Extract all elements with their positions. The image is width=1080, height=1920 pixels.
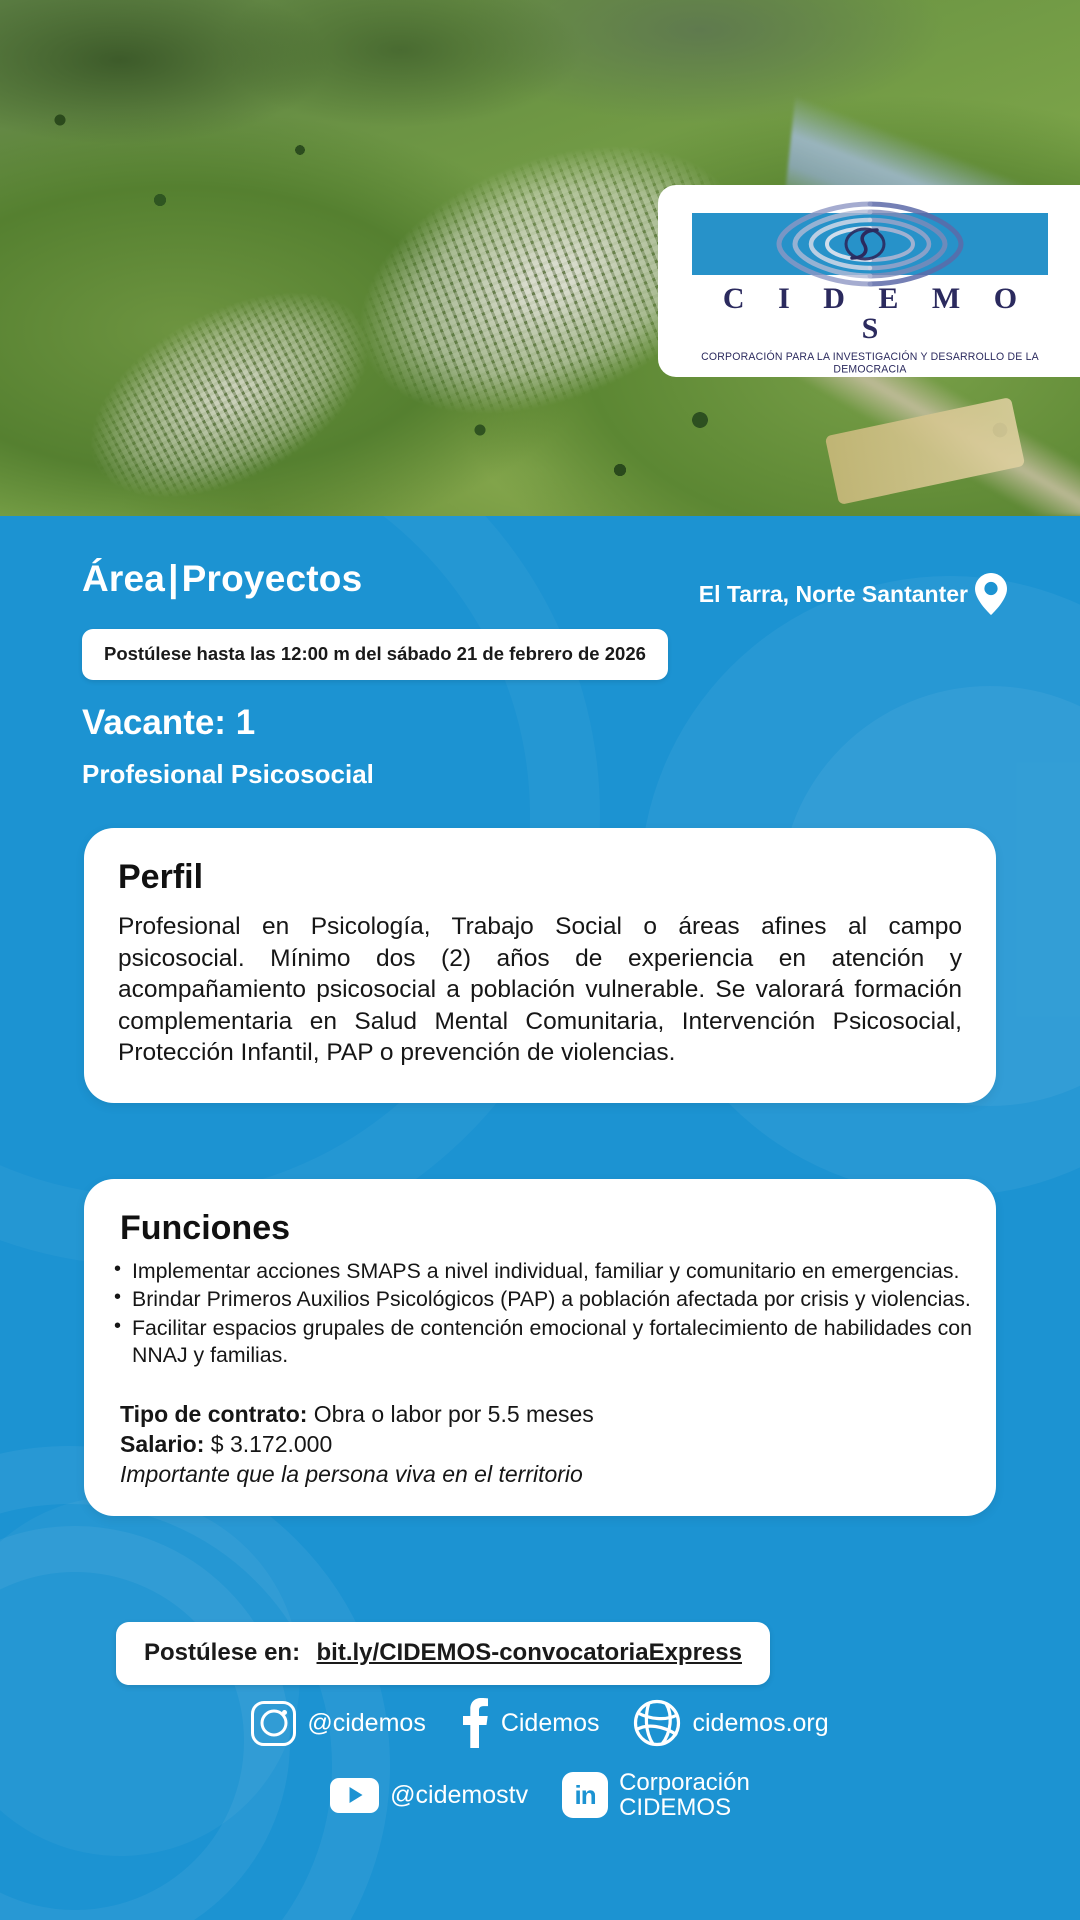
salary-value: $ 3.172.000 (211, 1431, 333, 1457)
logo-banner (692, 213, 1048, 275)
social-facebook[interactable]: Cidemos (460, 1698, 600, 1748)
area-value: Proyectos (182, 558, 363, 599)
funciones-card: Funciones Implementar acciones SMAPS a n… (84, 1179, 996, 1516)
salary-label: Salario: (120, 1431, 204, 1457)
youtube-icon[interactable] (330, 1778, 379, 1813)
social-youtube[interactable]: @cidemostv (330, 1778, 528, 1813)
area-title: Área|Proyectos (82, 558, 362, 600)
list-item: Facilitar espacios grupales de contenció… (108, 1315, 972, 1370)
location: El Tarra, Norte Santanter (699, 572, 1008, 616)
website-handle: cidemos.org (692, 1710, 828, 1737)
social-row-1: @cidemos Cidemos cidemos.org (0, 1698, 1080, 1748)
social-row-2: @cidemostv in Corporación CIDEMOS (0, 1770, 1080, 1821)
facebook-handle: Cidemos (501, 1710, 600, 1737)
hero-photo-banner: C I D E M O S CORPORACIÓN PARA LA INVEST… (0, 0, 1080, 516)
contract-type-label: Tipo de contrato: (120, 1401, 307, 1427)
vacancy-role-title: Profesional Psicosocial (82, 759, 374, 790)
apply-bar[interactable]: Postúlese en: bit.ly/CIDEMOS-convocatori… (116, 1622, 770, 1685)
social-website[interactable]: cidemos.org (633, 1699, 828, 1747)
location-text: El Tarra, Norte Santanter (699, 581, 968, 608)
social-footer: @cidemos Cidemos cidemos.org (0, 1698, 1080, 1821)
perfil-card: Perfil Profesional en Psicología, Trabaj… (84, 828, 996, 1103)
contract-type-line: Tipo de contrato: Obra o labor por 5.5 m… (120, 1400, 972, 1430)
linkedin-handle-line1: Corporación (619, 1769, 750, 1796)
funciones-heading: Funciones (120, 1209, 972, 1248)
swirl-emblem-icon (765, 196, 975, 292)
area-and-location-row: Área|Proyectos El Tarra, Norte Santanter (0, 516, 1080, 626)
instagram-handle: @cidemos (307, 1710, 425, 1737)
vacancy-count: Vacante: 1 (82, 703, 255, 743)
list-item: Brindar Primeros Auxilios Psicológicos (… (108, 1286, 972, 1313)
apply-link[interactable]: bit.ly/CIDEMOS-convocatoriaExpress (317, 1639, 742, 1666)
residency-note: Importante que la persona viva en el ter… (120, 1460, 972, 1490)
area-separator: | (165, 558, 182, 599)
apply-label: Postúlese en: (144, 1639, 300, 1666)
area-label: Área (82, 558, 165, 599)
logo-wordmark: C I D E M O S (688, 284, 1052, 344)
social-linkedin[interactable]: in Corporación CIDEMOS (562, 1770, 750, 1821)
website-globe-icon[interactable] (633, 1699, 681, 1747)
perfil-text: Profesional en Psicología, Trabajo Socia… (118, 911, 962, 1069)
main-content: Área|Proyectos El Tarra, Norte Santanter… (0, 516, 1080, 626)
contract-type-value: Obra o labor por 5.5 meses (314, 1401, 594, 1427)
cidemos-logo-card: C I D E M O S CORPORACIÓN PARA LA INVEST… (658, 185, 1080, 377)
deadline-banner: Postúlese hasta las 12:00 m del sábado 2… (82, 629, 668, 680)
logo-tagline: CORPORACIÓN PARA LA INVESTIGACIÓN Y DESA… (688, 350, 1052, 375)
social-instagram[interactable]: @cidemos (251, 1701, 425, 1746)
deadline-text: Postúlese hasta las 12:00 m del sábado 2… (104, 643, 646, 664)
map-pin-icon (974, 572, 1008, 616)
perfil-heading: Perfil (118, 858, 962, 897)
list-item: Implementar acciones SMAPS a nivel indiv… (108, 1258, 972, 1285)
linkedin-handle: Corporación CIDEMOS (619, 1770, 750, 1821)
youtube-handle: @cidemostv (390, 1782, 528, 1809)
instagram-icon[interactable] (251, 1701, 296, 1746)
contract-terms: Tipo de contrato: Obra o labor por 5.5 m… (120, 1400, 972, 1490)
salary-line: Salario: $ 3.172.000 (120, 1430, 972, 1460)
linkedin-handle-line2: CIDEMOS (619, 1794, 731, 1821)
funciones-list: Implementar acciones SMAPS a nivel indiv… (108, 1258, 972, 1370)
facebook-icon[interactable] (460, 1698, 490, 1748)
linkedin-icon[interactable]: in (562, 1772, 608, 1818)
